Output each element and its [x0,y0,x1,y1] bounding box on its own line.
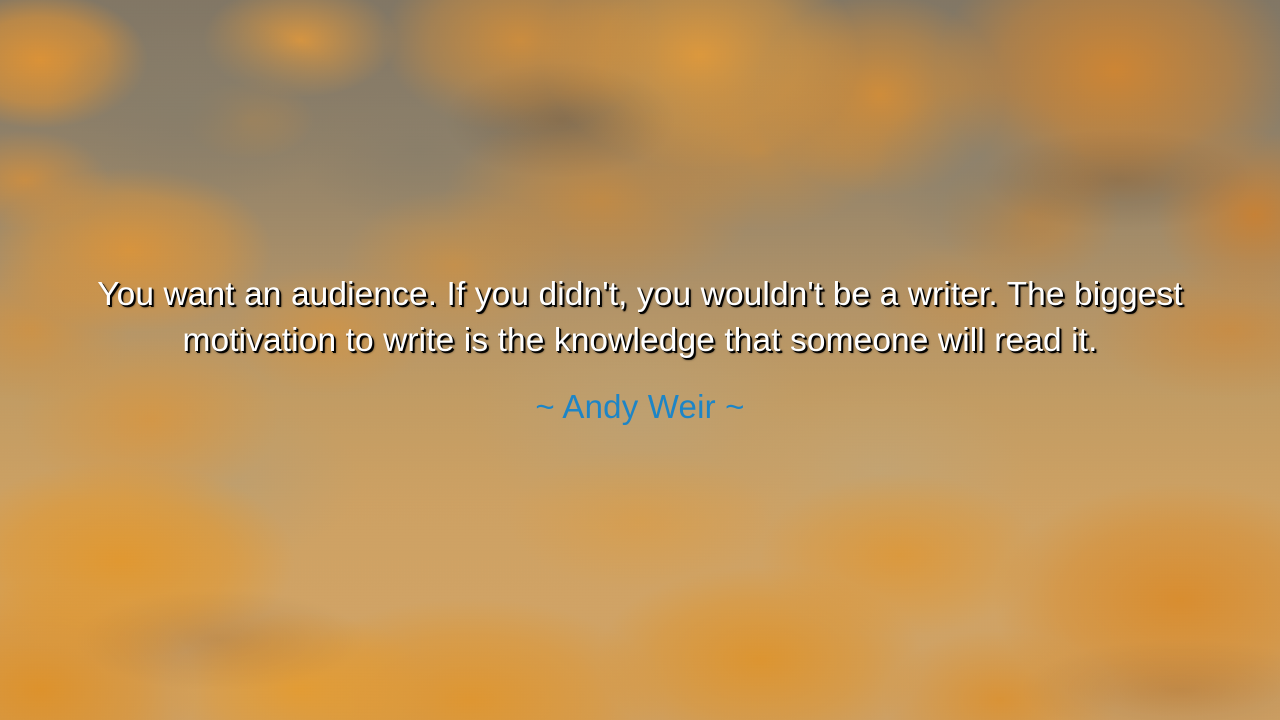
quote-attribution: ~ Andy Weir ~ [0,386,1280,428]
quote-text: You want an audience. If you didn't, you… [70,272,1210,364]
quote-image-canvas: You want an audience. If you didn't, you… [0,0,1280,720]
quote-card: You want an audience. If you didn't, you… [0,272,1280,428]
